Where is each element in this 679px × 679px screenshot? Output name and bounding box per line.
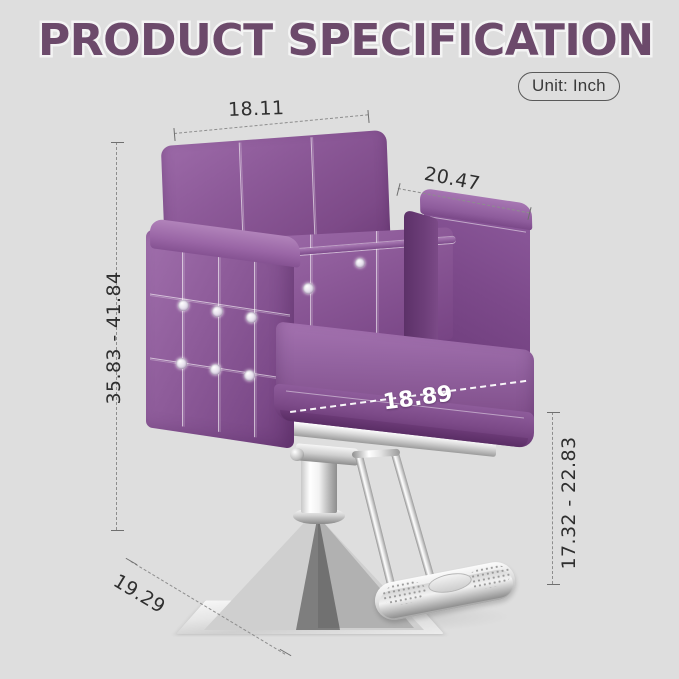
crystal-button-arm-5	[210, 364, 221, 375]
crystal-button-arm-3	[246, 312, 257, 323]
crystal-button-arm-2	[212, 306, 223, 317]
dim-label-width-top: 18.11	[228, 97, 285, 121]
chair-illustration	[0, 0, 679, 679]
crystal-button-arm-1	[178, 300, 189, 311]
crystal-button-arm-4	[176, 358, 187, 369]
crystal-button-back-2	[355, 258, 365, 268]
product-specification-image: PRODUCT SPECIFICATION Unit: Inch	[0, 0, 679, 679]
dim-label-overall-height: 35.83 - 41.84	[103, 265, 125, 411]
armrest-left-stitch-v2	[218, 246, 219, 432]
pyramid-highlight	[296, 514, 340, 630]
hydraulic-cylinder	[301, 455, 337, 513]
dim-tick-seat-height-top	[547, 412, 560, 413]
dim-tick-overall-bottom	[111, 530, 124, 531]
dim-tick-overall-top	[111, 142, 124, 143]
crystal-button-back-1	[303, 283, 314, 294]
dim-line-seat-height	[552, 412, 553, 584]
lever-knob-icon	[290, 448, 304, 461]
crystal-button-arm-6	[244, 370, 255, 381]
dim-tick-seat-height-bottom	[547, 584, 560, 585]
armrest-left-stitch-v3	[254, 251, 255, 437]
dim-label-seat-height: 17.32 - 22.83	[558, 430, 580, 576]
armrest-left-stitch-v1	[182, 240, 183, 426]
